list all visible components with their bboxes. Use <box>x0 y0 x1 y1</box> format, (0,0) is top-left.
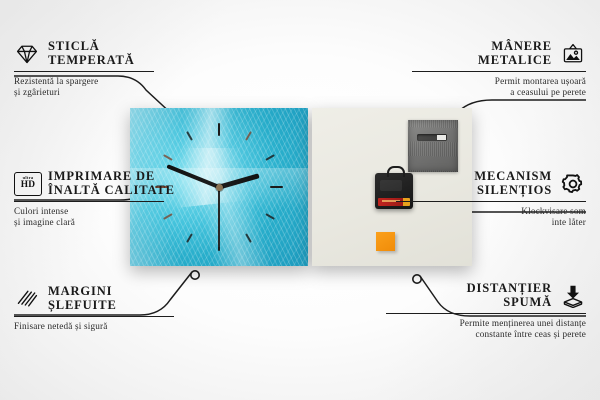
feature-title: MÂNERE METALICE <box>478 40 552 67</box>
feature-title: IMPRIMARE DE ÎNALTĂ CALITATE <box>48 170 175 197</box>
feature-title: MARGINI ȘLEFUITE <box>48 285 117 312</box>
clock-hand-cap <box>216 184 223 191</box>
feature-subtitle-line2: inte låter <box>396 217 586 228</box>
feature-subtitle-line1: Permit montarea ușoară <box>396 76 586 87</box>
feature-foam-spacer: DISTANȚIER SPUMĂ Permite menținerea unei… <box>386 282 586 340</box>
infographic-canvas: STICLĂ TEMPERATĂ Rezistentă la spargere … <box>0 0 600 400</box>
feature-polished-edges: MARGINI ȘLEFUITE Finisare netedă și sigu… <box>14 285 204 332</box>
feature-silent-mechanism: MECANISM SILENȚIOS Klockvisare som inte … <box>396 170 586 228</box>
feature-subtitle-line1: Klockvisare som <box>396 206 586 217</box>
feature-head: MARGINI ȘLEFUITE <box>14 285 204 312</box>
feature-title: STICLĂ TEMPERATĂ <box>48 40 135 67</box>
feature-metal-handles: MÂNERE METALICE Permit montarea ușoară a… <box>396 40 586 98</box>
feature-head: MÂNERE METALICE <box>396 40 586 67</box>
feature-subtitle-line2: a ceasului pe perete <box>396 87 586 98</box>
tick-12 <box>218 123 220 187</box>
feature-subtitle-line2: și zgârieturi <box>14 87 204 98</box>
feature-subtitle-line2: și imagine clară <box>14 217 204 228</box>
hanger-slot <box>417 134 447 141</box>
feature-head: DISTANȚIER SPUMĂ <box>386 282 586 309</box>
feature-subtitle-line1: Culori intense <box>14 206 204 217</box>
feature-subtitle-line2: constante între ceas și perete <box>386 329 586 340</box>
feature-head: ultra HD IMPRIMARE DE ÎNALTĂ CALITATE <box>14 170 204 197</box>
foam-spacer-pad <box>376 232 395 251</box>
feature-rule <box>14 71 154 72</box>
foam-spacer-icon <box>560 284 586 308</box>
feature-title: MECANISM SILENȚIOS <box>474 170 552 197</box>
connector-dot-polished-edges <box>191 271 199 279</box>
clock-second-hand <box>218 187 220 247</box>
feature-head: STICLĂ TEMPERATĂ <box>14 40 204 67</box>
feature-rule <box>412 71 586 72</box>
ultra-hd-icon: ultra HD <box>14 172 40 196</box>
polished-edges-icon <box>14 287 40 311</box>
feature-subtitle-line1: Permite menținerea unei distanțe <box>386 318 586 329</box>
metal-hanger-plate <box>408 120 458 172</box>
feature-subtitle-line1: Rezistentă la spargere <box>14 76 204 87</box>
feature-rule <box>14 316 174 317</box>
feature-subtitle-line1: Finisare netedă și sigură <box>14 321 204 332</box>
feature-head: MECANISM SILENȚIOS <box>396 170 586 197</box>
diamond-icon <box>14 42 40 66</box>
feature-tempered-glass: STICLĂ TEMPERATĂ Rezistentă la spargere … <box>14 40 204 98</box>
feature-high-quality-print: ultra HD IMPRIMARE DE ÎNALTĂ CALITATE Cu… <box>14 170 204 228</box>
feature-rule <box>14 201 164 202</box>
feature-title: DISTANȚIER SPUMĂ <box>467 282 552 309</box>
hanging-frame-icon <box>560 42 586 66</box>
feature-rule <box>396 201 586 202</box>
hd-icon-main-text: HD <box>21 181 35 190</box>
gear-icon <box>560 172 586 196</box>
feature-rule <box>386 313 586 314</box>
